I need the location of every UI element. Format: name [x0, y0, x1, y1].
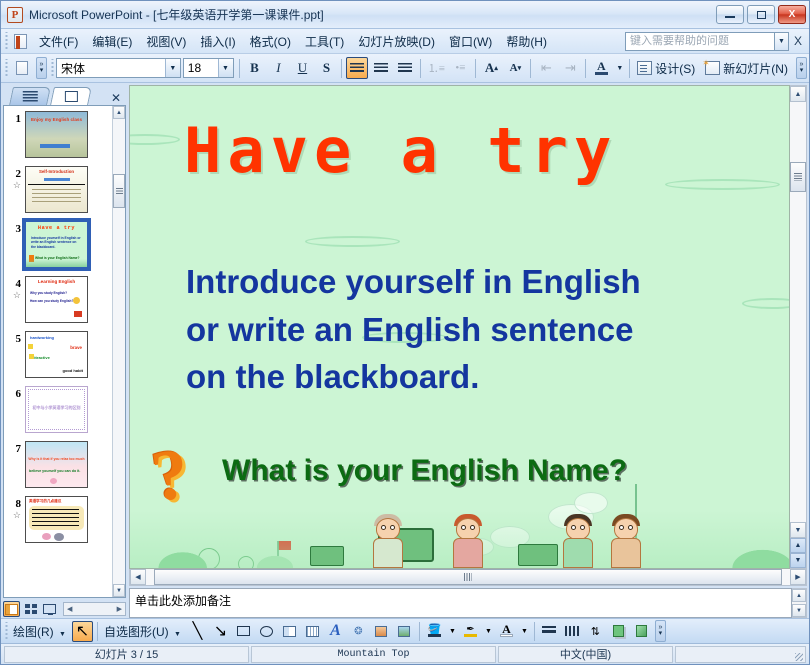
slide-number: 5 — [7, 331, 25, 345]
decor-desk-icon — [310, 546, 344, 566]
toolbar-separator — [341, 59, 342, 78]
underline-button[interactable]: U — [291, 57, 313, 79]
animation-star-icon: ☆ — [7, 510, 21, 521]
chevron-down-icon[interactable]: ▼ — [218, 59, 233, 77]
scroll-left-icon[interactable]: ◀ — [67, 605, 72, 613]
toolbar-separator — [629, 59, 630, 78]
slide-thumbnail-list: 1 Enjoy my English class 2 ☆ Self-Introd… — [3, 105, 126, 598]
slide-sorter-icon — [25, 604, 37, 614]
slides-icon — [64, 91, 77, 102]
slide-title[interactable]: Have a try — [184, 114, 617, 187]
draw-menu-label: 绘图(R) — [13, 625, 54, 639]
decor-swoosh-icon — [665, 179, 780, 190]
slides-outline-pane: ✕ 1 Enjoy my English class 2 ☆ — [3, 85, 126, 618]
list-item[interactable]: 3 Have a try Introduce yourself in Engli… — [4, 221, 112, 268]
status-resize-grip[interactable] — [675, 646, 806, 663]
slide-horizontal-scrollbar[interactable]: ◀ ▶ — [129, 569, 807, 586]
list-item[interactable]: 5 hardworking brave attractive good habi… — [4, 331, 112, 378]
list-item[interactable]: 7 Why is it that if you relax too much b… — [4, 441, 112, 488]
fill-color-dropdown[interactable]: ▼ — [447, 621, 458, 642]
oval-icon[interactable] — [256, 621, 277, 642]
scrollbar-thumb[interactable] — [790, 162, 806, 192]
slide-number: 4 ☆ — [7, 276, 25, 301]
slide-thumbnail[interactable]: 英语学习的几点建议 — [25, 496, 88, 543]
notes-scrollbar[interactable]: ▲ ▼ — [792, 588, 807, 618]
toolbar-separator — [530, 59, 531, 78]
slide-vertical-scrollbar[interactable]: ▲ ▼ ▲ ▼ — [790, 85, 807, 569]
slide-design-button[interactable]: 设计(S) — [633, 57, 701, 80]
menu-item-window[interactable]: 窗口(W) — [442, 30, 499, 53]
vertical-text-box-icon[interactable] — [302, 621, 323, 642]
scroll-up-icon[interactable]: ▲ — [790, 86, 806, 102]
font-name-combo[interactable]: 宋体 ▼ — [56, 58, 181, 78]
slide-sorter-button[interactable] — [22, 601, 39, 617]
increase-indent-button[interactable]: ⇥ — [559, 57, 581, 79]
font-name-value: 宋体 — [57, 60, 89, 77]
decor-desk-icon — [518, 544, 558, 566]
arrow-icon[interactable]: ↘ — [210, 621, 231, 642]
toolbar-grip-handle-1[interactable] — [3, 59, 10, 78]
drawbar-grip-handle[interactable] — [3, 622, 10, 641]
list-item[interactable]: 8 ☆ 英语学习的几点建议 — [4, 496, 112, 543]
new-slide-label: 新幻灯片(N) — [723, 60, 788, 77]
line-color-icon[interactable]: ✒ — [460, 621, 481, 642]
insert-diagram-icon[interactable]: ❂ — [348, 621, 369, 642]
scroll-right-icon[interactable]: ▶ — [117, 605, 122, 613]
document-icon — [10, 32, 30, 51]
decor-swoosh-icon — [305, 236, 400, 247]
align-right-button[interactable] — [394, 57, 416, 79]
new-document-icon[interactable] — [11, 57, 33, 79]
slide-thumbnail[interactable]: Enjoy my English class — [25, 111, 88, 158]
fill-color-icon[interactable]: 🪣 — [424, 621, 445, 642]
menu-bar: 文件(F) 编辑(E) 视图(V) 插入(I) 格式(O) 工具(T) 幻灯片放… — [1, 29, 809, 54]
design-template-name[interactable]: Mountain Top — [251, 646, 496, 663]
toolbar-separator — [239, 59, 240, 78]
italic-button[interactable]: I — [267, 57, 289, 79]
align-center-button[interactable] — [370, 57, 392, 79]
align-left-button[interactable] — [346, 57, 368, 79]
new-slide-button[interactable]: 新幻灯片(N) — [701, 57, 794, 80]
bulleted-list-button[interactable]: •≡ — [449, 57, 471, 79]
thumbnail-scroll-content: 1 Enjoy my English class 2 ☆ Self-Introd… — [4, 106, 112, 597]
decrease-font-size-button[interactable]: A▾ — [504, 57, 526, 79]
menu-item-slideshow[interactable]: 幻灯片放映(D) — [351, 30, 442, 53]
toolbar-separator — [419, 622, 420, 641]
scrollbar-track[interactable] — [113, 119, 125, 584]
increase-font-size-button[interactable]: A▴ — [480, 57, 502, 79]
slide-thumbnail[interactable]: Self-Introduction — [25, 166, 88, 213]
scroll-down-icon[interactable]: ▼ — [790, 522, 806, 538]
chevron-down-icon: ▼ — [59, 631, 66, 638]
insert-clip-art-icon[interactable] — [371, 621, 392, 642]
insert-wordart-icon[interactable]: A — [325, 621, 346, 642]
scrollbar-thumb[interactable] — [113, 174, 125, 208]
scroll-up-icon[interactable]: ▲ — [113, 106, 125, 119]
drawbar-options-button[interactable]: »▾ — [655, 620, 666, 642]
next-slide-button[interactable]: ▼ — [790, 553, 806, 568]
slide-number-text: 8 — [16, 498, 22, 510]
formatting-toolbar: »▾ 宋体 ▼ 18 ▼ B I U S ⒈≡ •≡ A▴ A▾ ⇤ — [1, 54, 809, 83]
autoshapes-label: 自选图形(U) — [104, 625, 169, 639]
slide-number: 8 ☆ — [7, 496, 25, 521]
arrow-style-icon[interactable]: ⇅ — [585, 621, 606, 642]
toolbar-options-button-2[interactable]: »▾ — [796, 57, 807, 79]
menu-item-help[interactable]: 帮助(H) — [499, 30, 554, 53]
tab-slides[interactable] — [50, 87, 92, 105]
drawing-toolbar: 绘图(R) ▼ ↖ 自选图形(U) ▼ ╲ ↘ A ❂ — [1, 618, 809, 644]
chevron-down-icon[interactable]: ▼ — [775, 32, 789, 51]
slide-question-text[interactable]: What is your English Name? — [222, 454, 627, 488]
autoshapes-menu-button[interactable]: 自选图形(U) ▼ — [101, 621, 186, 642]
menu-item-tools[interactable]: 工具(T) — [298, 30, 351, 53]
menu-item-view[interactable]: 视图(V) — [139, 30, 193, 53]
slide-number: 3 — [7, 221, 25, 235]
list-item[interactable]: 6 初中与小学英语学习的区别 — [4, 386, 112, 433]
decor-kid-icon — [450, 516, 488, 568]
font-color-button[interactable]: A — [590, 57, 612, 79]
shadow-style-icon[interactable] — [608, 621, 629, 642]
animation-star-icon: ☆ — [7, 290, 21, 301]
scrollbar-thumb[interactable] — [154, 569, 782, 585]
slide-number: 1 — [7, 111, 25, 125]
normal-view-icon — [5, 604, 18, 615]
toolbar-separator — [420, 59, 421, 78]
notes-pane: 单击此处添加备注 ▲ ▼ — [129, 588, 807, 618]
select-objects-button[interactable]: ↖ — [72, 621, 93, 642]
slide-thumbnail-selected[interactable]: Have a try Introduce yourself in English… — [25, 221, 88, 268]
menu-item-format[interactable]: 格式(O) — [243, 30, 298, 53]
menu-item-file[interactable]: 文件(F) — [32, 30, 85, 53]
slide-canvas[interactable]: Have a try Introduce yourself in English… — [129, 85, 790, 569]
line-color-dropdown[interactable]: ▼ — [483, 621, 494, 642]
status-bar: 幻灯片 3 / 15 Mountain Top 中文(中国) — [1, 644, 809, 664]
chevron-down-icon: ▼ — [174, 631, 181, 638]
menu-grip-handle[interactable] — [3, 32, 10, 51]
toolbar-separator — [97, 622, 98, 641]
list-item[interactable]: 2 ☆ Self-Introduction — [4, 166, 112, 213]
dash-style-icon[interactable] — [562, 621, 583, 642]
list-item[interactable]: 1 Enjoy my English class — [4, 111, 112, 158]
font-size-combo[interactable]: 18 ▼ — [183, 58, 234, 78]
draw-menu-button[interactable]: 绘图(R) ▼ — [10, 621, 71, 642]
decor-swoosh-icon — [742, 298, 790, 309]
outline-icon — [22, 91, 37, 103]
window-title: Microsoft PowerPoint - [七年级英语开学第一课课件.ppt… — [29, 6, 324, 23]
text-shadow-button[interactable]: S — [315, 57, 337, 79]
scroll-down-icon[interactable]: ▼ — [792, 604, 806, 617]
scrollbar-track[interactable] — [790, 102, 806, 522]
slide-thumbnail[interactable]: Learning English Why you study English? … — [25, 276, 88, 323]
toolbar-grip-handle-2[interactable] — [49, 59, 56, 78]
decor-swoosh-icon — [129, 134, 180, 145]
toolbar-separator — [585, 59, 586, 78]
ask-a-question-box: 键入需要帮助的问题 ▼ X — [625, 32, 807, 51]
toolbar-separator — [475, 59, 476, 78]
font-color-letter: A — [597, 61, 606, 72]
powerpoint-logo-icon — [7, 7, 23, 23]
insert-picture-icon[interactable] — [394, 621, 415, 642]
scroll-right-icon[interactable]: ▶ — [790, 569, 806, 585]
slide-counter: 幻灯片 3 / 15 — [4, 646, 249, 663]
pane-horizontal-scrollbar[interactable]: ◀▶ — [63, 602, 126, 616]
previous-slide-button[interactable]: ▲ — [790, 538, 806, 553]
slide-and-scrollbar: Have a try Introduce yourself in English… — [129, 85, 807, 569]
font-color-icon[interactable]: A — [496, 621, 517, 642]
line-style-icon[interactable] — [539, 621, 560, 642]
view-buttons-bar: ◀▶ — [3, 600, 126, 618]
slide-show-button[interactable] — [41, 601, 58, 617]
scrollbar-track[interactable] — [146, 569, 790, 585]
main-work-area: ✕ 1 Enjoy my English class 2 ☆ — [1, 83, 809, 618]
powerpoint-window: Microsoft PowerPoint - [七年级英语开学第一课课件.ppt… — [0, 0, 810, 665]
3-d-style-icon[interactable] — [631, 621, 652, 642]
slide-show-icon — [43, 604, 56, 614]
list-item[interactable]: 4 ☆ Learning English Why you study Engli… — [4, 276, 112, 323]
toolbar-options-button-1[interactable]: »▾ — [36, 57, 47, 79]
bold-button[interactable]: B — [243, 57, 265, 79]
maximize-button[interactable] — [747, 5, 775, 24]
font-size-value: 18 — [184, 61, 205, 75]
slide-number: 6 — [7, 386, 25, 400]
decor-kid-icon — [370, 516, 408, 568]
notes-placeholder[interactable]: 单击此处添加备注 — [129, 588, 792, 618]
rectangle-icon[interactable] — [233, 621, 254, 642]
slide-thumbnail[interactable]: Why is it that if you relax too much bel… — [25, 441, 88, 488]
decor-kid-icon — [560, 516, 598, 568]
font-color-dropdown[interactable]: ▼ — [519, 621, 530, 642]
slide-thumbnail[interactable]: hardworking brave attractive good habit — [25, 331, 88, 378]
tab-outline[interactable] — [9, 87, 51, 105]
close-menubar-icon[interactable]: X — [789, 34, 807, 48]
text-box-icon[interactable] — [279, 621, 300, 642]
slide-editing-pane: Have a try Introduce yourself in English… — [129, 85, 807, 618]
decrease-indent-button[interactable]: ⇤ — [535, 57, 557, 79]
slide-design-label: 设计(S) — [655, 60, 695, 77]
menu-item-insert[interactable]: 插入(I) — [193, 30, 242, 53]
slide-number: 2 ☆ — [7, 166, 25, 191]
slide-number-text: 2 — [16, 168, 22, 180]
thumbnail-scrollbar[interactable]: ▲ ▼ — [112, 106, 125, 597]
close-pane-icon[interactable]: ✕ — [111, 91, 126, 105]
design-icon — [637, 61, 652, 75]
chevron-down-icon[interactable]: ▼ — [165, 59, 180, 77]
scroll-up-icon[interactable]: ▲ — [792, 589, 806, 602]
pane-tab-strip: ✕ — [3, 85, 126, 105]
numbered-list-button[interactable]: ⒈≡ — [425, 57, 447, 79]
window-controls: X — [716, 5, 806, 24]
decor-kid-icon — [608, 516, 646, 568]
menu-item-edit[interactable]: 编辑(E) — [85, 30, 139, 53]
close-button[interactable]: X — [778, 5, 806, 24]
help-search-input[interactable]: 键入需要帮助的问题 — [625, 32, 775, 51]
slide-number: 7 — [7, 441, 25, 455]
scroll-down-icon[interactable]: ▼ — [113, 584, 125, 597]
slide-number-text: 4 — [16, 278, 22, 290]
question-mark-icon: ? — [147, 430, 219, 516]
minimize-button[interactable] — [716, 5, 744, 24]
animation-star-icon: ☆ — [7, 180, 21, 191]
scroll-left-icon[interactable]: ◀ — [130, 569, 146, 585]
font-color-dropdown[interactable]: ▼ — [614, 57, 625, 79]
language-indicator[interactable]: 中文(中国) — [498, 646, 673, 663]
line-icon[interactable]: ╲ — [187, 621, 208, 642]
new-slide-icon — [705, 61, 720, 75]
slide-thumbnail[interactable]: 初中与小学英语学习的区别 — [25, 386, 88, 433]
slide-body-text[interactable]: Introduce yourself in English or write a… — [186, 258, 641, 401]
normal-view-button[interactable] — [3, 601, 20, 617]
title-bar: Microsoft PowerPoint - [七年级英语开学第一课课件.ppt… — [1, 1, 809, 29]
toolbar-separator — [534, 622, 535, 641]
